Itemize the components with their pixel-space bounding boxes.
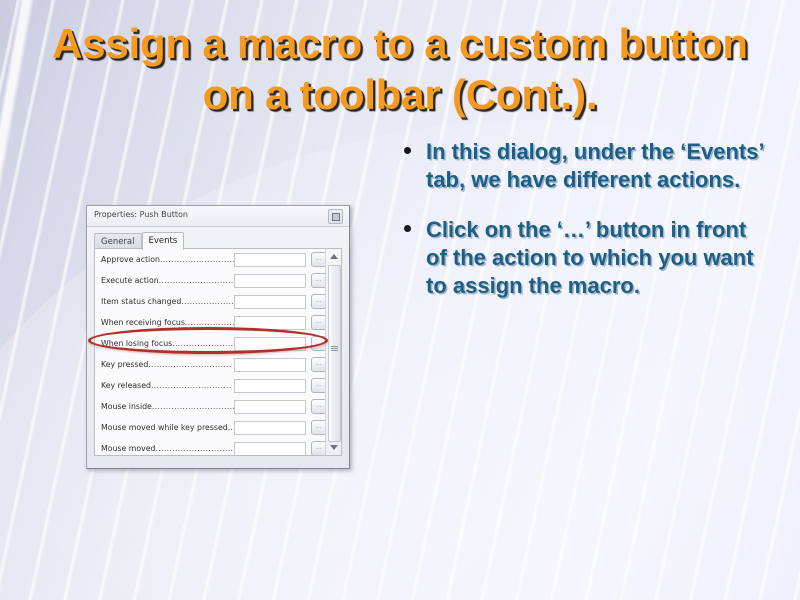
table-row-key-pressed[interactable]: Key pressed.............................… [95, 354, 325, 375]
event-value-input[interactable] [234, 400, 306, 414]
table-row[interactable]: Key released............................… [95, 375, 325, 396]
table-row[interactable]: Execute action..........................… [95, 270, 325, 291]
page-title: Assign a macro to a custom button on a t… [40, 18, 760, 120]
event-label: When losing focus.......................… [101, 339, 234, 348]
event-value-input[interactable] [234, 295, 306, 309]
table-row[interactable]: Mouse inside............................… [95, 396, 325, 417]
list-item: Click on the ‘…’ button in front of the … [404, 216, 764, 300]
browse-button[interactable]: ... [311, 315, 325, 330]
browse-button[interactable]: ... [311, 357, 325, 372]
restore-icon[interactable] [328, 209, 343, 224]
slide-canvas: Assign a macro to a custom button on a t… [0, 0, 800, 600]
list-item: In this dialog, under the ‘Events’ tab, … [404, 138, 764, 194]
browse-button[interactable]: ... [311, 336, 325, 351]
scrollbar-thumb[interactable] [328, 265, 341, 442]
dialog-title: Properties: Push Button [94, 210, 188, 219]
event-label: Approve action..........................… [101, 255, 234, 264]
bullet-text: Click on the ‘…’ button in front of the … [426, 216, 764, 300]
event-value-input[interactable] [234, 442, 306, 456]
table-row[interactable]: Mouse moved while key pressed..... ... [95, 417, 325, 438]
table-row[interactable]: Mouse moved.............................… [95, 438, 325, 455]
event-value-input[interactable] [234, 379, 306, 393]
table-row[interactable]: Item status changed.....................… [95, 291, 325, 312]
browse-button[interactable]: ... [311, 273, 325, 288]
event-value-input[interactable] [234, 337, 306, 351]
event-label: Execute action..........................… [101, 276, 234, 285]
browse-button[interactable]: ... [311, 420, 325, 435]
table-row[interactable]: When receiving focus....................… [95, 312, 325, 333]
dialog-tablist: GeneralEvents [94, 231, 349, 249]
browse-button[interactable]: ... [311, 294, 325, 309]
scrollbar-grip-icon [331, 346, 338, 351]
bullet-list: In this dialog, under the ‘Events’ tab, … [404, 138, 764, 322]
table-row[interactable]: When losing focus.......................… [95, 333, 325, 354]
vertical-scrollbar[interactable] [325, 249, 341, 455]
event-value-input[interactable] [234, 274, 306, 288]
browse-button[interactable]: ... [311, 399, 325, 414]
bullet-marker-icon [404, 138, 426, 154]
event-label: When receiving focus....................… [101, 318, 234, 327]
event-value-input[interactable] [234, 358, 306, 372]
tab-events[interactable]: Events [142, 232, 185, 250]
event-label: Mouse moved.............................… [101, 444, 234, 453]
event-value-input[interactable] [234, 421, 306, 435]
table-row[interactable]: Approve action..........................… [95, 249, 325, 270]
dialog-titlebar: Properties: Push Button [87, 206, 349, 227]
events-panel: Approve action..........................… [94, 248, 342, 456]
bullet-marker-icon [404, 216, 426, 232]
event-label: Item status changed..................... [101, 297, 234, 306]
event-label: Mouse moved while key pressed..... [101, 423, 234, 432]
event-label: Key pressed.............................… [101, 360, 234, 369]
properties-dialog[interactable]: Properties: Push Button GeneralEvents Ap… [86, 205, 350, 469]
bullet-text: In this dialog, under the ‘Events’ tab, … [426, 138, 764, 194]
event-label: Mouse inside............................… [101, 402, 234, 411]
browse-button[interactable]: ... [311, 252, 325, 267]
event-label: Key released............................… [101, 381, 234, 390]
browse-button[interactable]: ... [311, 441, 325, 455]
events-row-container: Approve action..........................… [95, 249, 325, 455]
chevron-down-icon[interactable] [327, 441, 340, 454]
chevron-up-icon[interactable] [327, 250, 340, 263]
browse-button[interactable]: ... [311, 378, 325, 393]
event-value-input[interactable] [234, 316, 306, 330]
event-value-input[interactable] [234, 253, 306, 267]
